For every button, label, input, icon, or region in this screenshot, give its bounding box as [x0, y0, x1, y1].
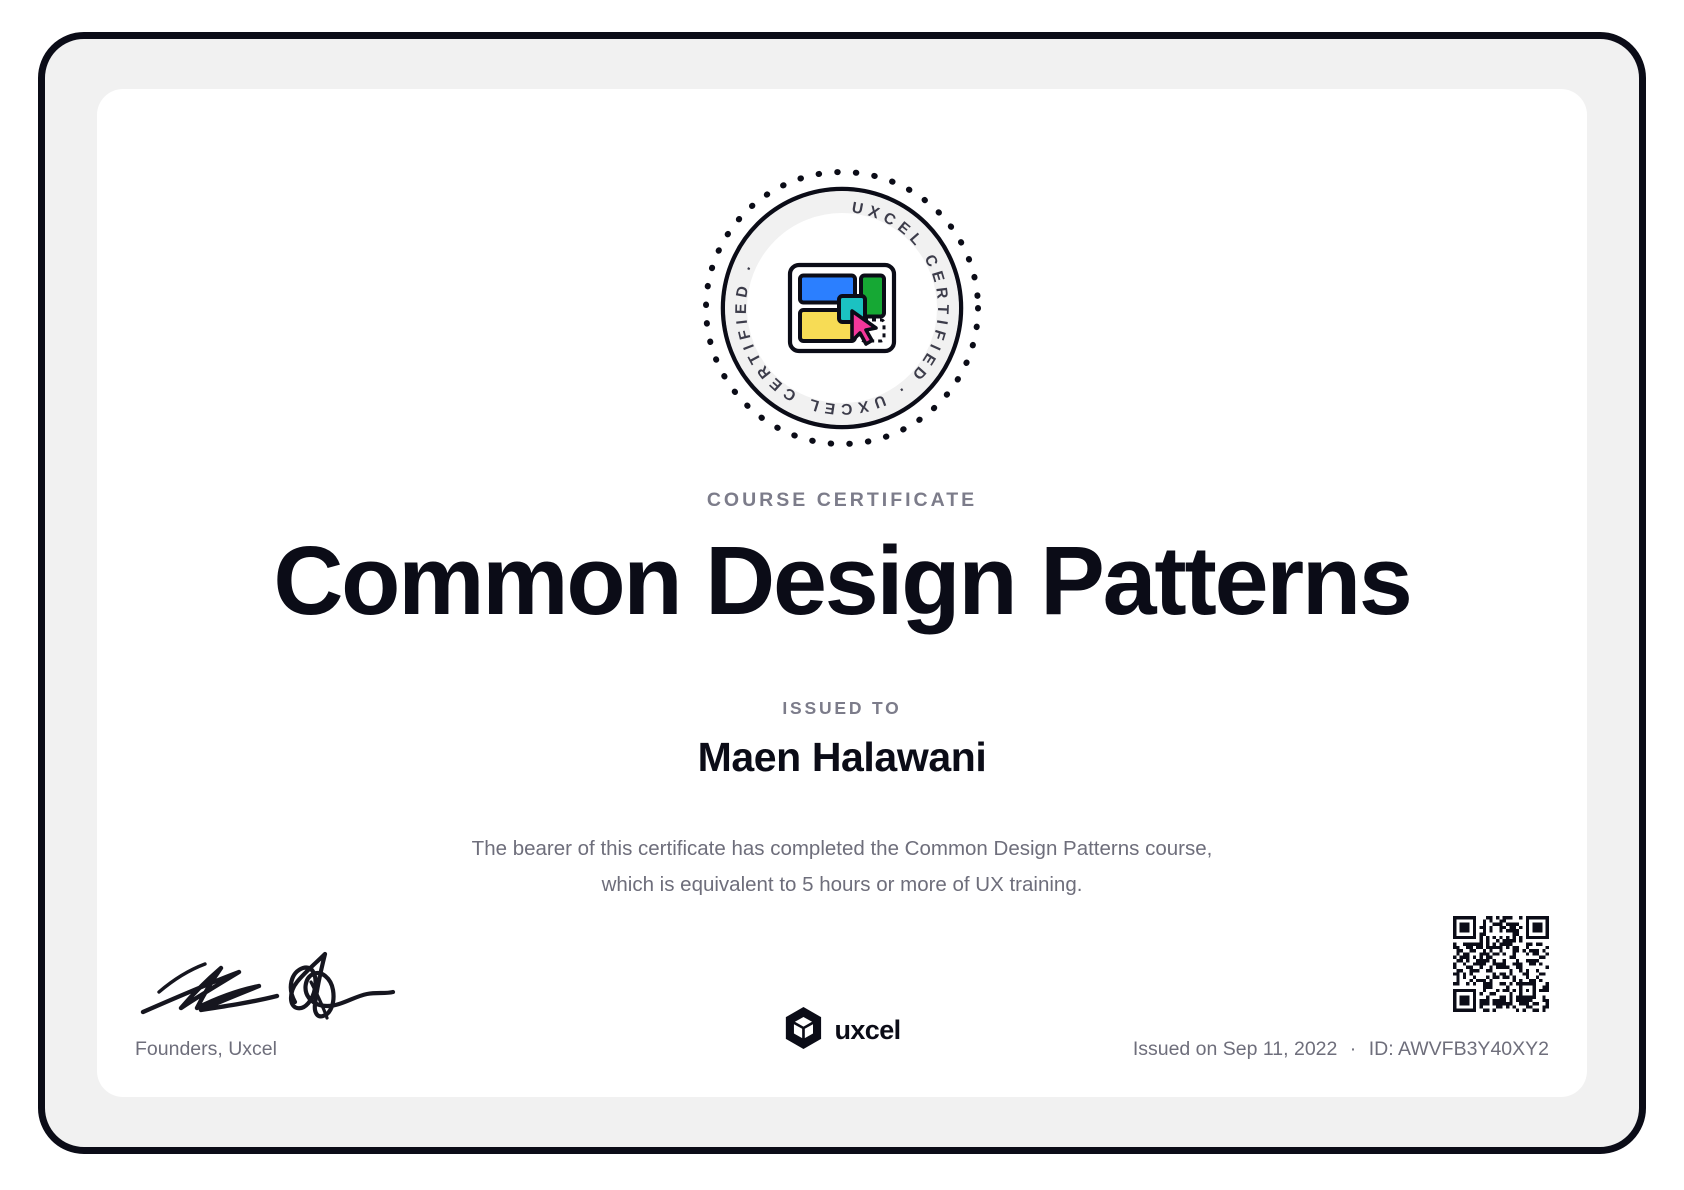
- page-title: Common Design Patterns: [97, 529, 1587, 634]
- qr-code[interactable]: [1453, 916, 1549, 1012]
- certificate-surface: UXCEL CERTIFIED · UXCEL CERTIFIED · COUR…: [97, 89, 1587, 1097]
- issued-to-label: ISSUED TO: [97, 698, 1587, 719]
- issued-on-text: Issued on Sep 11, 2022: [1133, 1038, 1338, 1060]
- certificate-meta-block: Issued on Sep 11, 2022 · ID: AWVFB3Y40XY…: [909, 916, 1549, 1061]
- founders-signature-image: [135, 948, 435, 1026]
- uxcel-hexagon-cube-icon: [783, 1006, 823, 1055]
- uxcel-certified-seal: UXCEL CERTIFIED · UXCEL CERTIFIED ·: [697, 163, 987, 453]
- issued-on-and-id-text: Issued on Sep 11, 2022 · ID: AWVFB3Y40XY…: [909, 1038, 1549, 1061]
- signature-block: Founders, Uxcel: [135, 948, 555, 1061]
- uxcel-wordmark: uxcel: [834, 1015, 900, 1046]
- signature-caption: Founders, Uxcel: [135, 1038, 555, 1061]
- course-certificate-label: COURSE CERTIFICATE: [97, 489, 1587, 512]
- design-patterns-icon: [790, 265, 894, 351]
- certificate-frame: UXCEL CERTIFIED · UXCEL CERTIFIED · COUR…: [38, 32, 1646, 1154]
- certificate-id-text: ID: AWVFB3Y40XY2: [1369, 1038, 1549, 1060]
- certificate-footer: Founders, Uxcel uxcel: [135, 891, 1549, 1061]
- meta-separator: ·: [1343, 1038, 1364, 1060]
- recipient-name: Maen Halawani: [97, 734, 1587, 781]
- uxcel-logo: uxcel: [783, 1006, 900, 1055]
